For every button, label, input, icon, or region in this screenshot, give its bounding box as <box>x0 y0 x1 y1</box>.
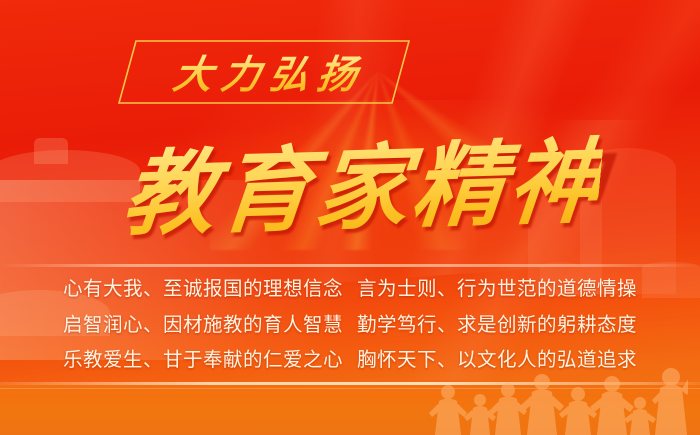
child-silhouette <box>624 397 656 435</box>
phrase-item: 言为士则、行为世范的道德情操 <box>357 272 637 305</box>
child-silhouette <box>520 374 564 435</box>
child-silhouette <box>429 385 467 435</box>
main-title-text: 教育家精神 <box>123 105 607 254</box>
phrase-divider <box>0 264 700 267</box>
band-thin-line <box>0 388 700 389</box>
ink-wash-shape-left-block <box>34 138 68 164</box>
main-title: 教育家精神 教育家精神 <box>130 112 600 248</box>
child-silhouette <box>590 376 634 435</box>
phrase-column-left: 心有大我、至诚报国的理想信念 启智润心、因材施教的育人智慧 乐教爱生、甘于奉献的… <box>63 272 343 376</box>
phrase-item: 启智润心、因材施教的育人智慧 <box>63 308 343 341</box>
phrase-item: 勤学笃行、求是创新的躬耕态度 <box>357 308 637 341</box>
kicker-text: 大力弘扬 <box>112 36 421 108</box>
child-silhouette <box>559 387 597 435</box>
phrase-item: 胸怀天下、以文化人的弘道追求 <box>357 343 637 376</box>
child-silhouette <box>464 394 496 435</box>
kicker-banner: 大力弘扬 大力弘扬 <box>118 36 410 108</box>
phrase-item: 心有大我、至诚报国的理想信念 <box>63 272 343 305</box>
band-highlight-line <box>0 382 700 386</box>
child-silhouette <box>489 383 527 435</box>
bottom-orange-band <box>0 385 700 435</box>
poster-canvas: 道之所存师之所存也古之学者必有师师者所以传道受业解惑也人非生而知之者孰能无惑惑而… <box>0 0 700 435</box>
phrase-item: 乐教爱生、甘于奉献的仁爱之心 <box>63 343 343 376</box>
phrase-block: 心有大我、至诚报国的理想信念 启智润心、因材施教的育人智慧 乐教爱生、甘于奉献的… <box>0 272 700 376</box>
ink-wash-shape-left-arc <box>0 150 140 202</box>
phrase-column-right: 言为士则、行为世范的道德情操 勤学笃行、求是创新的躬耕态度 胸怀天下、以文化人的… <box>357 272 637 376</box>
